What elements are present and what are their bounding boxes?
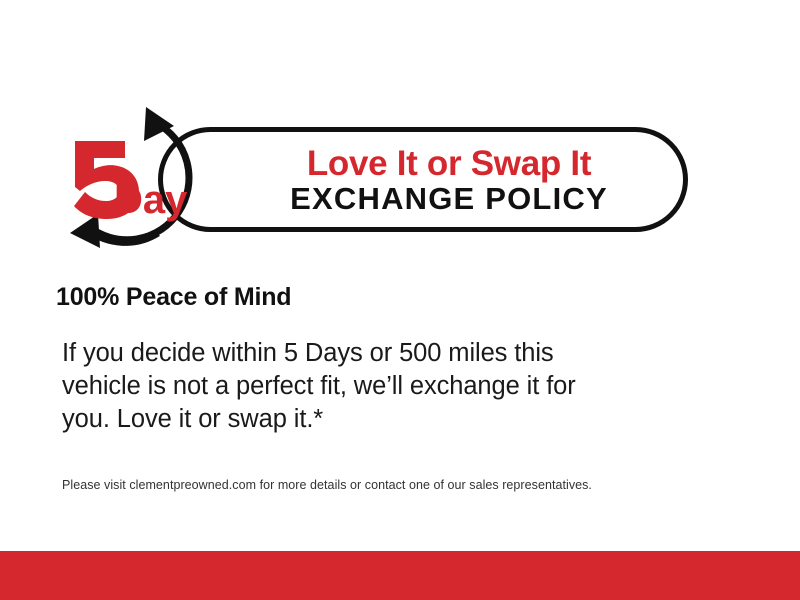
promotional-banner: Love It or Swap It EXCHANGE POLICY Day [0, 0, 800, 600]
bottom-accent-bar [0, 551, 800, 600]
fine-print-disclaimer: Please visit clementpreowned.com for mor… [62, 478, 592, 492]
five-day-cycle-badge: Day [48, 100, 196, 255]
policy-body-text: If you decide within 5 Days or 500 miles… [62, 337, 702, 436]
badge-header-lockup: Love It or Swap It EXCHANGE POLICY Day [48, 100, 653, 260]
policy-body-line-1: If you decide within 5 Days or 500 miles… [62, 337, 702, 370]
promo-title: Love It or Swap It [307, 146, 591, 181]
policy-body-line-2: vehicle is not a perfect fit, we’ll exch… [62, 370, 702, 403]
day-wordmark: Day [114, 178, 188, 222]
promo-subtitle: EXCHANGE POLICY [290, 183, 608, 214]
exchange-policy-pill: Love It or Swap It EXCHANGE POLICY [158, 127, 688, 232]
peace-of-mind-headline: 100% Peace of Mind [56, 283, 291, 312]
policy-body-line-3: you. Love it or swap it.* [62, 403, 702, 436]
